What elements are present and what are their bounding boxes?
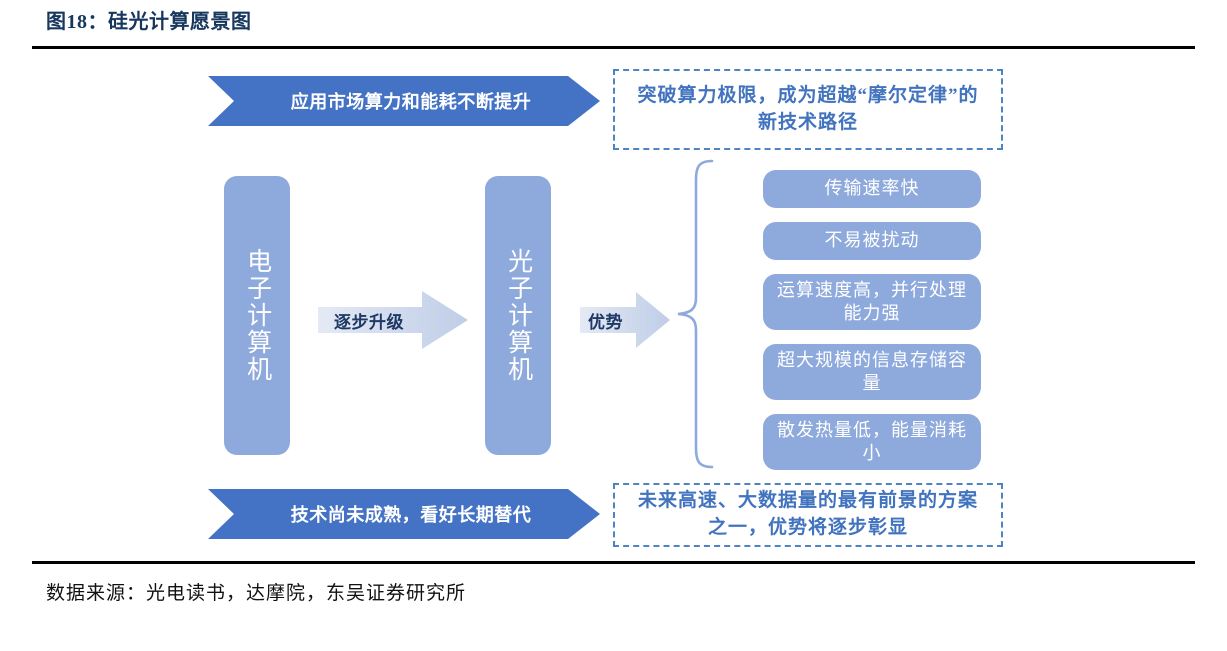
- banner-top-market-demand: 应用市场算力和能耗不断提升: [208, 76, 600, 126]
- benefit-item: 传输速率快: [763, 170, 981, 208]
- benefit-label: 传输速率快: [825, 177, 920, 200]
- benefit-label: 超大规模的信息存储容量: [769, 349, 975, 396]
- arrow-advantage: 优势: [580, 292, 670, 348]
- callout-bottom-outlook: 未来高速、大数据量的最有前景的方案之一，优势将逐步彰显: [613, 483, 1003, 547]
- callout-top-breakthrough: 突破算力极限，成为超越“摩尔定律”的新技术路径: [613, 69, 1003, 150]
- figure-source: 数据来源：光电读书，达摩院，东吴证券研究所: [46, 578, 466, 605]
- banner-bottom-label: 技术尚未成熟，看好长期替代: [277, 501, 532, 527]
- callout-bottom-text: 未来高速、大数据量的最有前景的方案之一，优势将逐步彰显: [631, 488, 985, 542]
- benefit-label: 运算速度高，并行处理能力强: [769, 279, 975, 326]
- benefit-label: 散发热量低，能量消耗小: [769, 419, 975, 466]
- banner-top-label: 应用市场算力和能耗不断提升: [277, 88, 532, 114]
- benefit-item: 运算速度高，并行处理能力强: [763, 274, 981, 330]
- stage-photonic-label: 光子计算机: [502, 248, 533, 383]
- stage-box-electronic-computer: 电子计算机: [224, 176, 290, 455]
- header-divider: [32, 46, 1195, 49]
- footer-divider: [32, 561, 1195, 564]
- benefit-item: 散发热量低，能量消耗小: [763, 414, 981, 470]
- stage-electronic-label: 电子计算机: [241, 248, 272, 383]
- benefit-item: 不易被扰动: [763, 222, 981, 260]
- stage-box-photonic-computer: 光子计算机: [485, 176, 551, 455]
- banner-bottom-technology-status: 技术尚未成熟，看好长期替代: [208, 489, 600, 539]
- benefit-item: 超大规模的信息存储容量: [763, 344, 981, 400]
- figure-title: 图18：硅光计算愿景图: [46, 5, 252, 34]
- arrow-step-upgrade-label: 逐步升级: [318, 308, 404, 333]
- benefit-label: 不易被扰动: [825, 229, 920, 252]
- callout-top-text: 突破算力极限，成为超越“摩尔定律”的新技术路径: [631, 83, 985, 137]
- curly-brace-icon: [672, 158, 716, 470]
- arrow-step-upgrade: 逐步升级: [318, 291, 468, 349]
- arrow-advantage-label: 优势: [580, 308, 623, 333]
